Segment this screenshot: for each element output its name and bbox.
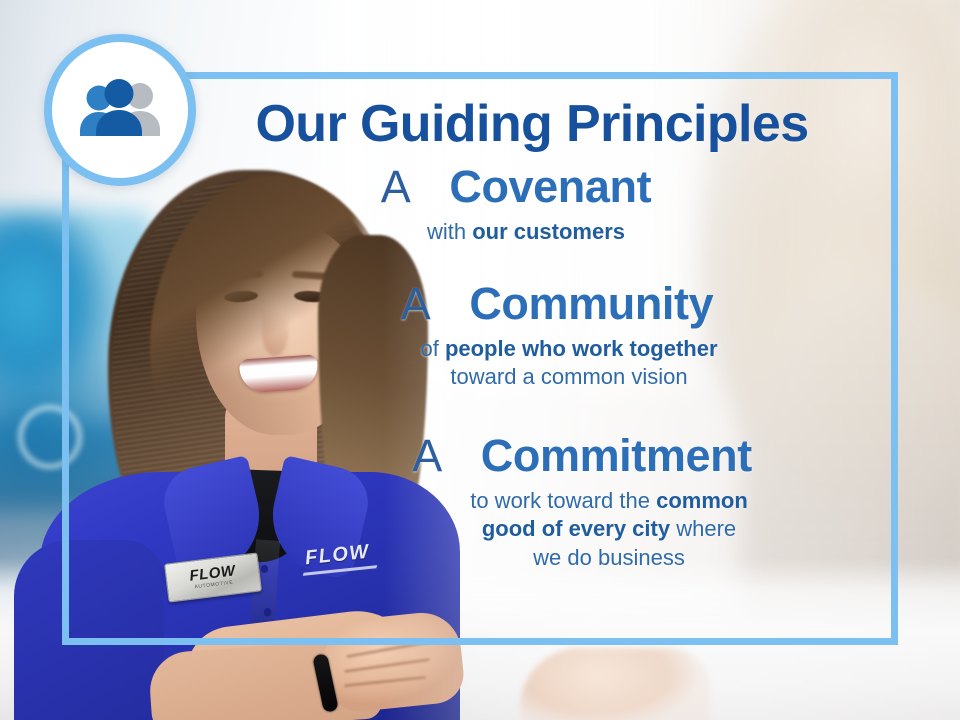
- subtext-span-bold: common: [656, 488, 748, 513]
- principle-word: Covenant: [449, 161, 651, 212]
- subtext-span-bold: people who work together: [445, 336, 718, 361]
- principle-word: Community: [469, 278, 713, 329]
- principle-subtext-line: with our customers: [200, 218, 852, 247]
- principle-article: A: [412, 430, 443, 481]
- subtext-span: to work toward the: [470, 488, 656, 513]
- subtext-span: with: [427, 219, 472, 244]
- principle-commitment: A Commitment to work toward the common g…: [62, 432, 852, 572]
- principle-heading: A Covenant: [180, 163, 852, 212]
- principle-heading: A Community: [262, 280, 852, 329]
- principle-word: Commitment: [481, 430, 752, 481]
- subtext-span: where: [670, 516, 736, 541]
- principle-subtext-line: to work toward the common: [366, 487, 852, 516]
- subtext-span-bold: our customers: [472, 219, 625, 244]
- guiding-principles-poster: FLOW FLOW AUTOMOTIVE: [0, 0, 960, 720]
- subtext-span: of: [420, 336, 444, 361]
- principle-subtext-line: we do business: [366, 544, 852, 573]
- principle-subtext: of people who work together toward a com…: [262, 335, 852, 392]
- principle-subtext: with our customers: [180, 218, 852, 247]
- subtext-span-bold: good of every city: [482, 516, 670, 541]
- principle-article: A: [381, 161, 412, 212]
- customer-hand: [520, 648, 710, 720]
- principle-article: A: [401, 278, 432, 329]
- page-title: Our Guiding Principles: [62, 98, 852, 151]
- principle-community: A Community of people who work together …: [62, 280, 852, 392]
- principle-subtext: to work toward the common good of every …: [312, 487, 852, 573]
- subtext-span: toward a common vision: [450, 364, 687, 389]
- principle-subtext-line: toward a common vision: [286, 363, 852, 392]
- principle-heading: A Commitment: [312, 432, 852, 481]
- poster-text-content: Our Guiding Principles A Covenant with o…: [62, 72, 898, 645]
- subtext-span: we do business: [533, 545, 685, 570]
- principle-covenant: A Covenant with our customers: [62, 163, 852, 246]
- principle-subtext-line: good of every city where: [366, 515, 852, 544]
- principle-subtext-line: of people who work together: [286, 335, 852, 364]
